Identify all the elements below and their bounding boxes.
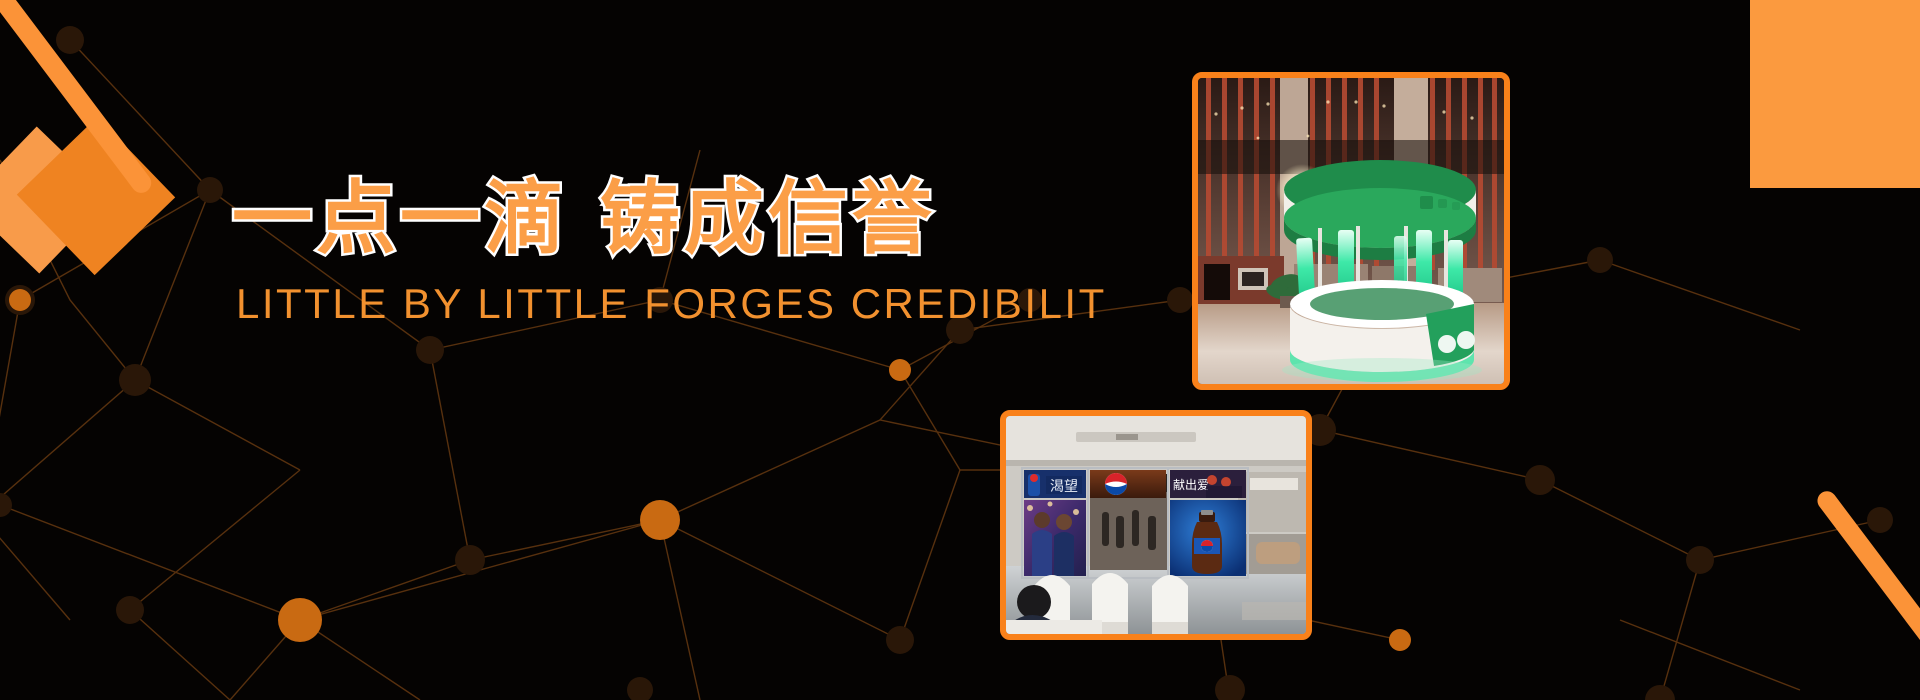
- promo-banner: 一点一滴 铸成信誉 LITTLE BY LITTLE FORGES CREDIB…: [0, 0, 1920, 700]
- subline: LITTLE BY LITTLE FORGES CREDIBILIT: [236, 280, 1107, 328]
- mall-kiosk-image: [1198, 78, 1504, 384]
- headline: 一点一滴 铸成信誉: [232, 176, 1107, 262]
- pepsi-display-image: 渴望 献出爱: [1006, 416, 1306, 634]
- pepsi-display-photo: 渴望 献出爱: [1000, 410, 1312, 640]
- network-background: [0, 0, 1920, 700]
- svg-text:献出爱: 献出爱: [1173, 477, 1209, 492]
- mall-kiosk-photo: [1192, 72, 1510, 390]
- copy-block: 一点一滴 铸成信誉 LITTLE BY LITTLE FORGES CREDIB…: [232, 176, 1107, 328]
- decor-block-top-right: [1750, 0, 1920, 188]
- svg-text:渴望: 渴望: [1050, 479, 1078, 495]
